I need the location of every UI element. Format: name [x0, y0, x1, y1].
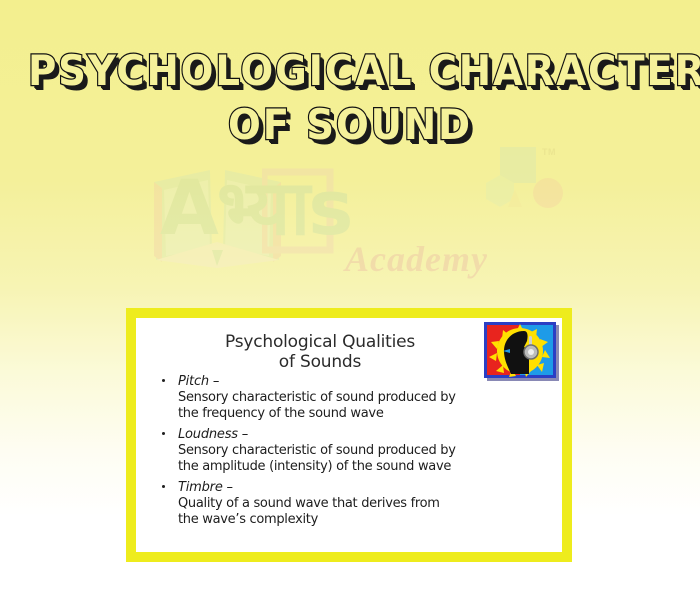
- card-heading-line-2: of Sounds: [166, 352, 474, 372]
- list-item: Loudness – Sensory characteristic of sou…: [156, 427, 544, 475]
- brand-logomark: Aभ्याs: [262, 168, 512, 268]
- title-line-1: PSYCHOLOGICAL CHARACTERISTICS: [28, 44, 672, 98]
- card-heading-line-1: Psychological Qualities: [166, 332, 474, 352]
- bullet-dot-icon: [162, 379, 165, 382]
- list-item: Timbre – Quality of a sound wave that de…: [156, 480, 544, 528]
- head-profile-sound-icon: [484, 322, 556, 378]
- title-line-2: OF SOUND: [28, 98, 672, 152]
- bullet-term: Pitch –: [178, 374, 544, 390]
- content-card-inner: Psychological Qualities of Sounds Pitch …: [136, 318, 562, 552]
- bullet-desc-line-2: the frequency of the sound wave: [178, 406, 508, 422]
- brand-text: Aभ्याs: [160, 170, 351, 246]
- list-item: Pitch – Sensory characteristic of sound …: [156, 374, 544, 422]
- bullet-desc-line-2: the wave’s complexity: [178, 512, 508, 528]
- brand-letter-box: [262, 168, 512, 268]
- bullet-term: Loudness –: [178, 427, 544, 443]
- bullet-term: Timbre –: [178, 480, 544, 496]
- bullet-desc-line-1: Quality of a sound wave that derives fro…: [178, 496, 508, 512]
- bullet-list: Pitch – Sensory characteristic of sound …: [156, 374, 544, 528]
- slide-page: Aभ्याs Academy TM PSYCHOLOGICAL CHARACTE…: [0, 0, 700, 600]
- open-book-icon: [150, 164, 285, 269]
- bullet-desc-line-1: Sensory characteristic of sound produced…: [178, 443, 508, 459]
- bullet-dot-icon: [162, 432, 165, 435]
- watermark-abhyas-academy: Aभ्याs Academy TM: [150, 150, 570, 310]
- bullet-dot-icon: [162, 485, 165, 488]
- card-heading: Psychological Qualities of Sounds: [166, 332, 474, 372]
- decorative-shapes: [470, 145, 575, 235]
- bullet-desc-line-1: Sensory characteristic of sound produced…: [178, 390, 508, 406]
- brand-subtext: Academy: [345, 238, 488, 280]
- bullet-desc-line-2: the amplitude (intensity) of the sound w…: [178, 459, 508, 475]
- page-title: PSYCHOLOGICAL CHARACTERISTICS OF SOUND: [0, 44, 700, 152]
- content-card: Psychological Qualities of Sounds Pitch …: [126, 308, 572, 562]
